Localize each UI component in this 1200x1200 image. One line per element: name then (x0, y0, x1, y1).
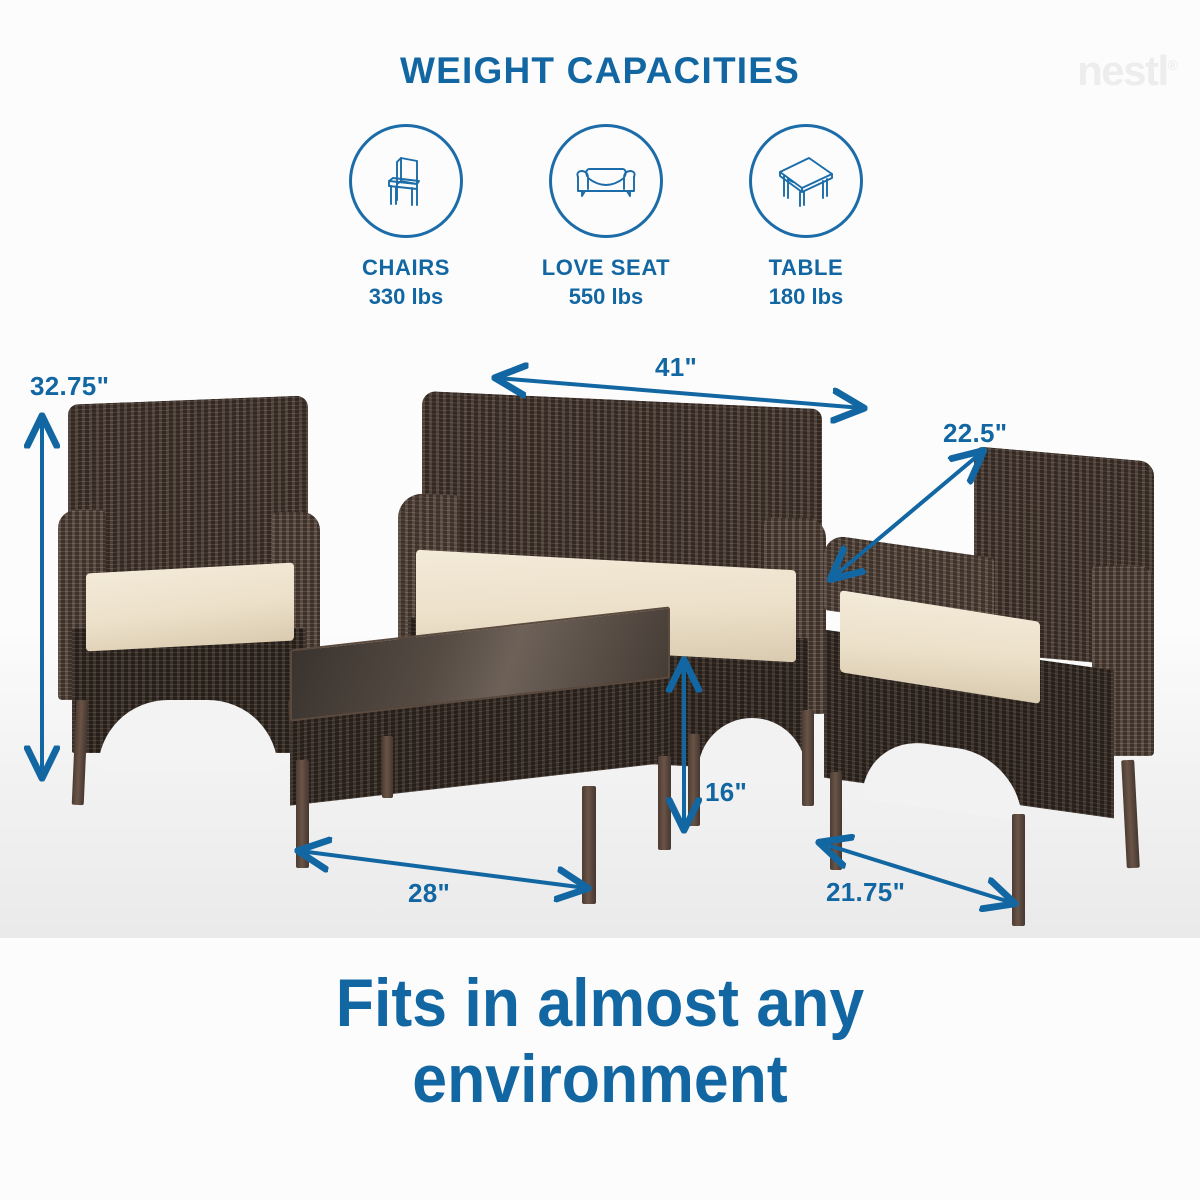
capacity-item-table: TABLE 180 lbs (706, 124, 906, 310)
infographic-page: WEIGHT CAPACITIES nestl® (0, 0, 1200, 1200)
chair-icon-circle (349, 124, 463, 238)
love-seat-leg-2 (802, 710, 814, 806)
chair-right (824, 454, 1154, 854)
capacity-label-chairs: CHAIRS (306, 255, 506, 281)
love-seat-leg-1 (688, 734, 700, 826)
capacity-label-loveseat: LOVE SEAT (506, 255, 706, 281)
registered-trademark-icon: ® (1168, 57, 1178, 73)
capacity-value-loveseat: 550 lbs (506, 284, 706, 310)
brand-logo: nestl® (1077, 50, 1178, 92)
weight-capacity-group: CHAIRS 330 lbs LOVE SEAT 5 (306, 124, 906, 324)
chair-right-leg-3 (1121, 760, 1140, 869)
chair-right-leg-2 (1012, 814, 1025, 926)
chair-right-leg-1 (830, 772, 842, 870)
capacity-item-loveseat: LOVE SEAT 550 lbs (506, 124, 706, 310)
coffee-table-leg-4 (658, 756, 671, 850)
loveseat-icon-circle (549, 124, 663, 238)
dimension-label-chair-depth: 22.5" (943, 418, 1007, 449)
chair-left (58, 400, 320, 800)
chair-left-cushion (86, 563, 294, 652)
coffee-table-leg-2 (382, 736, 393, 798)
table-icon-circle (749, 124, 863, 238)
tagline-line-2: environment (48, 1041, 1152, 1117)
coffee-table-leg-1 (296, 760, 309, 868)
capacity-item-chairs: CHAIRS 330 lbs (306, 124, 506, 310)
dimension-label-chair-height: 32.75" (30, 371, 109, 402)
table-icon (771, 148, 841, 214)
tagline-line-1: Fits in almost any (48, 965, 1152, 1041)
dimension-label-loveseat-width: 41" (655, 352, 697, 383)
coffee-table-leg-3 (582, 786, 596, 904)
loveseat-icon (571, 148, 641, 214)
brand-logo-text: nestl (1077, 47, 1168, 94)
capacity-label-table: TABLE (706, 255, 906, 281)
capacity-value-chairs: 330 lbs (306, 284, 506, 310)
dimension-label-table-width: 28" (408, 878, 450, 909)
page-title: WEIGHT CAPACITIES (0, 50, 1200, 92)
chair-icon (373, 148, 439, 214)
dimension-label-table-height: 16" (705, 777, 747, 808)
capacity-value-table: 180 lbs (706, 284, 906, 310)
dimension-label-chair-width: 21.75" (826, 877, 905, 908)
product-photo (0, 338, 1200, 938)
coffee-table (290, 628, 670, 858)
tagline: Fits in almost any environment (48, 965, 1152, 1117)
